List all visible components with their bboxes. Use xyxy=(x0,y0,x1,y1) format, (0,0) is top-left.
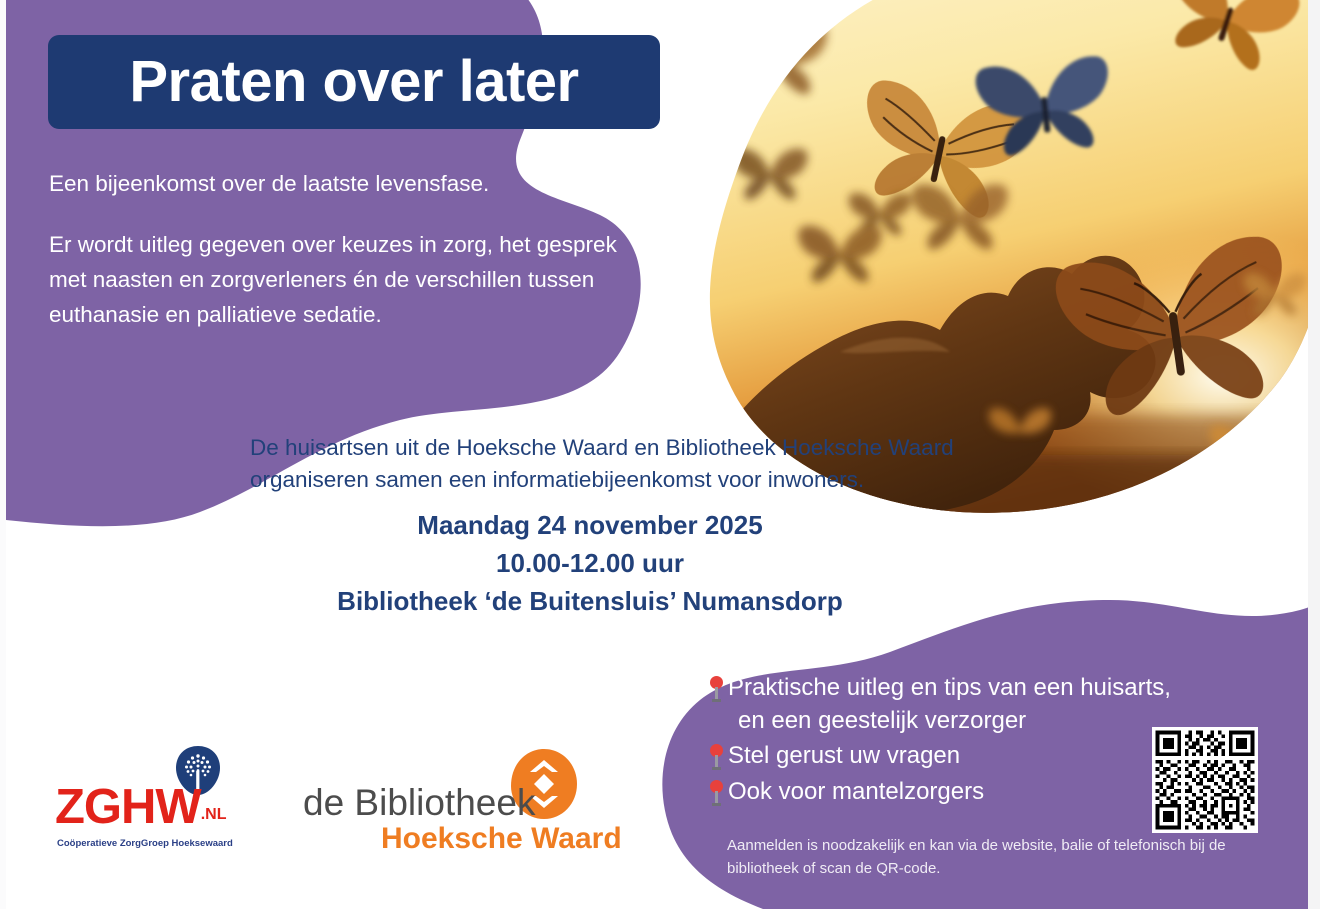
bibliotheek-region: Hoeksche Waard xyxy=(381,824,622,854)
event-location: Bibliotheek ‘de Buitensluis’ Numansdorp xyxy=(150,582,1030,620)
bullet-text-2: Stel gerust uw vragen xyxy=(728,739,960,772)
list-item: Ook voor mantelzorgers xyxy=(706,775,1226,809)
event-time: 10.00-12.00 uur xyxy=(150,544,1030,582)
bullet-text-3: Ook voor mantelzorgers xyxy=(728,775,984,808)
left-page-margin xyxy=(0,0,6,909)
list-item: Stel gerust uw vragen xyxy=(706,739,1226,773)
zghw-wordmark: ZGHW.NL xyxy=(55,783,226,832)
poster-title-box: Praten over later xyxy=(48,35,660,129)
page-title: Praten over later xyxy=(129,53,578,111)
organizer-text: De huisartsen uit de Hoeksche Waard en B… xyxy=(250,432,1070,496)
intro-paragraph-1: Een bijeenkomst over de laatste levensfa… xyxy=(49,166,629,201)
pin-icon xyxy=(706,743,728,773)
right-page-margin xyxy=(1308,0,1320,909)
zghw-domain-suffix: .NL xyxy=(201,806,227,823)
zghw-tagline: Coöperatieve ZorgGroep Hoeksewaard xyxy=(57,838,233,849)
qr-code[interactable] xyxy=(1152,727,1258,833)
event-date: Maandag 24 november 2025 xyxy=(150,506,1030,544)
intro-paragraph-2: Er wordt uitleg gegeven over keuzes in z… xyxy=(49,227,629,332)
bibliotheek-logo: de Bibliotheek Hoeksche Waard xyxy=(303,748,603,853)
highlights-list: Praktische uitleg en tips van een huisar… xyxy=(706,671,1226,811)
intro-text-block: Een bijeenkomst over de laatste levensfa… xyxy=(49,166,629,332)
qr-code-image[interactable] xyxy=(1152,727,1258,833)
event-details-block: Maandag 24 november 2025 10.00-12.00 uur… xyxy=(150,506,1030,620)
zghw-logo: ZGHW.NL Coöperatieve ZorgGroep Hoeksewaa… xyxy=(55,745,255,855)
pin-icon xyxy=(706,779,728,809)
pin-icon xyxy=(706,675,728,705)
bullet-text-1: Praktische uitleg en tips van een huisar… xyxy=(728,671,1171,737)
bullet-line-1b: en een geestelijk verzorger xyxy=(728,704,1171,737)
bibliotheek-name: de Bibliotheek xyxy=(303,784,535,821)
poster-canvas: Praten over later Een bijeenkomst over d… xyxy=(0,0,1320,909)
registration-note: Aanmelden is noodzakelijk en kan via de … xyxy=(727,834,1227,880)
list-item: Praktische uitleg en tips van een huisar… xyxy=(706,671,1226,737)
bullet-line-1a: Praktische uitleg en tips van een huisar… xyxy=(728,674,1171,701)
zghw-wordmark-text: ZGHW xyxy=(55,780,201,834)
